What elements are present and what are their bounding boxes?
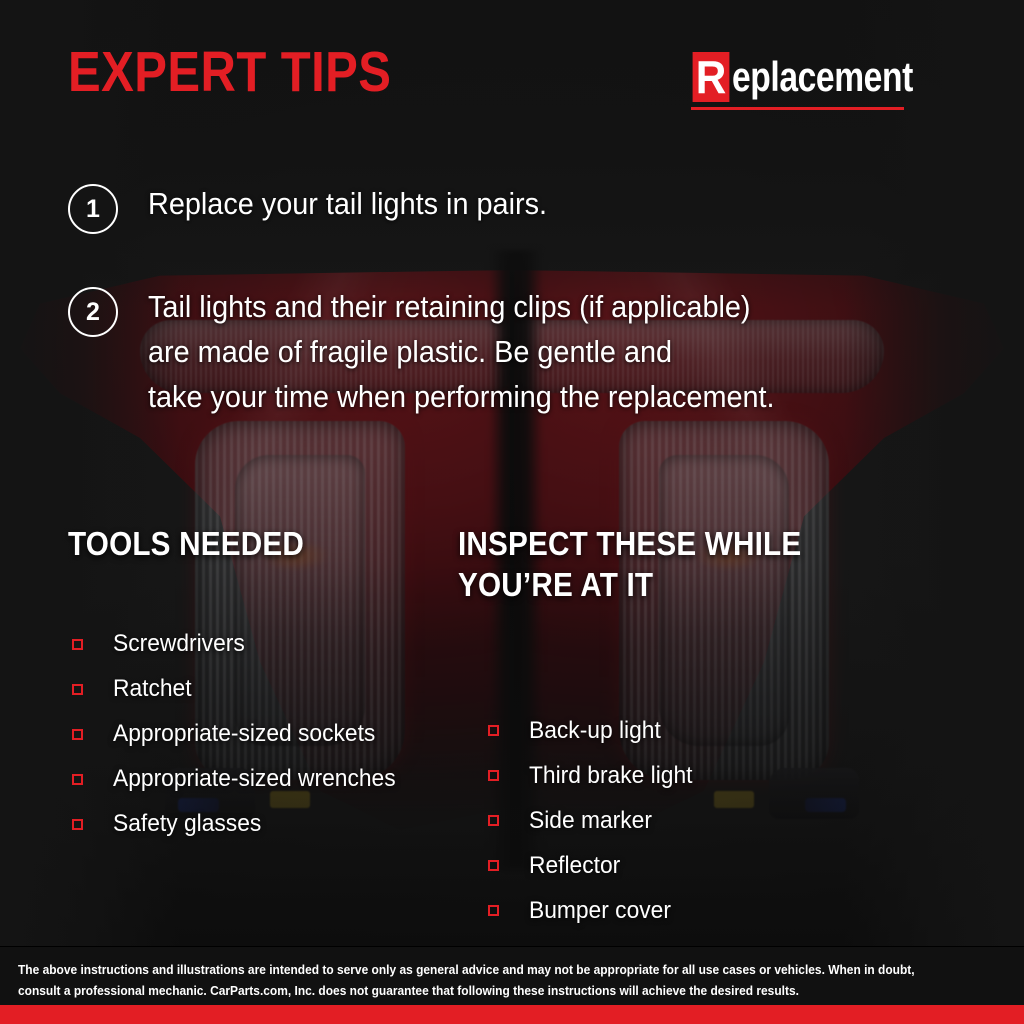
logo-r-mark: R — [692, 52, 729, 102]
list-item[interactable]: Safety glasses — [72, 802, 468, 847]
checkbox-icon[interactable] — [72, 684, 83, 695]
checkbox-icon[interactable] — [488, 725, 499, 736]
tools-needed-column: TOOLS NEEDED Screwdrivers Ratchet Approp… — [68, 524, 468, 847]
list-item[interactable]: Side marker — [488, 798, 878, 843]
inspect-these-list: Back-up light Third brake light Side mar… — [488, 708, 878, 933]
list-item[interactable]: Appropriate-sized sockets — [72, 712, 468, 757]
logo-wordmark: eplacement — [732, 56, 913, 98]
checkbox-icon[interactable] — [488, 860, 499, 871]
list-item[interactable]: Back-up light — [488, 708, 878, 753]
list-item[interactable]: Ratchet — [72, 667, 468, 712]
list-item[interactable]: Screwdrivers — [72, 622, 468, 667]
list-item-label: Bumper cover — [529, 899, 671, 923]
tip-number-badge-2: 2 — [68, 287, 118, 337]
inspect-these-column: INSPECT THESE WHILE YOU’RE AT IT Back-up… — [458, 524, 878, 933]
list-item-label: Ratchet — [113, 677, 192, 701]
checkbox-icon[interactable] — [72, 819, 83, 830]
list-item-label: Side marker — [529, 809, 652, 833]
checkbox-icon[interactable] — [488, 815, 499, 826]
tip-number-badge-1: 1 — [68, 184, 118, 234]
inspect-these-heading: INSPECT THESE WHILE YOU’RE AT IT — [458, 524, 836, 605]
tip-item-2: 2 Tail lights and their retaining clips … — [68, 285, 822, 420]
checkbox-icon[interactable] — [488, 905, 499, 916]
footer-disclaimer: The above instructions and illustrations… — [18, 959, 927, 1002]
list-item-label: Screwdrivers — [113, 632, 245, 656]
list-item[interactable]: Appropriate-sized wrenches — [72, 757, 468, 802]
footer: The above instructions and illustrations… — [0, 947, 1024, 1005]
tools-needed-heading: TOOLS NEEDED — [68, 524, 428, 565]
logo-underline — [691, 107, 904, 110]
list-item-label: Reflector — [529, 854, 620, 878]
checkbox-icon[interactable] — [72, 774, 83, 785]
tools-needed-list: Screwdrivers Ratchet Appropriate-sized s… — [72, 622, 468, 847]
tip-text-1: Replace your tail lights in pairs. — [148, 182, 547, 227]
list-item[interactable]: Reflector — [488, 843, 878, 888]
tip-text-2: Tail lights and their retaining clips (i… — [148, 285, 775, 420]
expert-tips-infographic: EXPERT TIPS R eplacement 1 Replace your … — [0, 0, 1024, 1024]
list-item-label: Appropriate-sized wrenches — [113, 767, 396, 791]
checkbox-icon[interactable] — [72, 729, 83, 740]
list-item-label: Appropriate-sized sockets — [113, 722, 375, 746]
list-item[interactable]: Bumper cover — [488, 888, 878, 933]
list-item-label: Back-up light — [529, 719, 661, 743]
tip-item-1: 1 Replace your tail lights in pairs. — [68, 182, 577, 234]
checkbox-icon[interactable] — [72, 639, 83, 650]
list-item-label: Third brake light — [529, 764, 692, 788]
list-item[interactable]: Third brake light — [488, 753, 878, 798]
bottom-accent-bar — [0, 1005, 1024, 1024]
list-item-label: Safety glasses — [113, 812, 261, 836]
replacement-brand-logo: R eplacement — [691, 52, 958, 110]
checkbox-icon[interactable] — [488, 770, 499, 781]
